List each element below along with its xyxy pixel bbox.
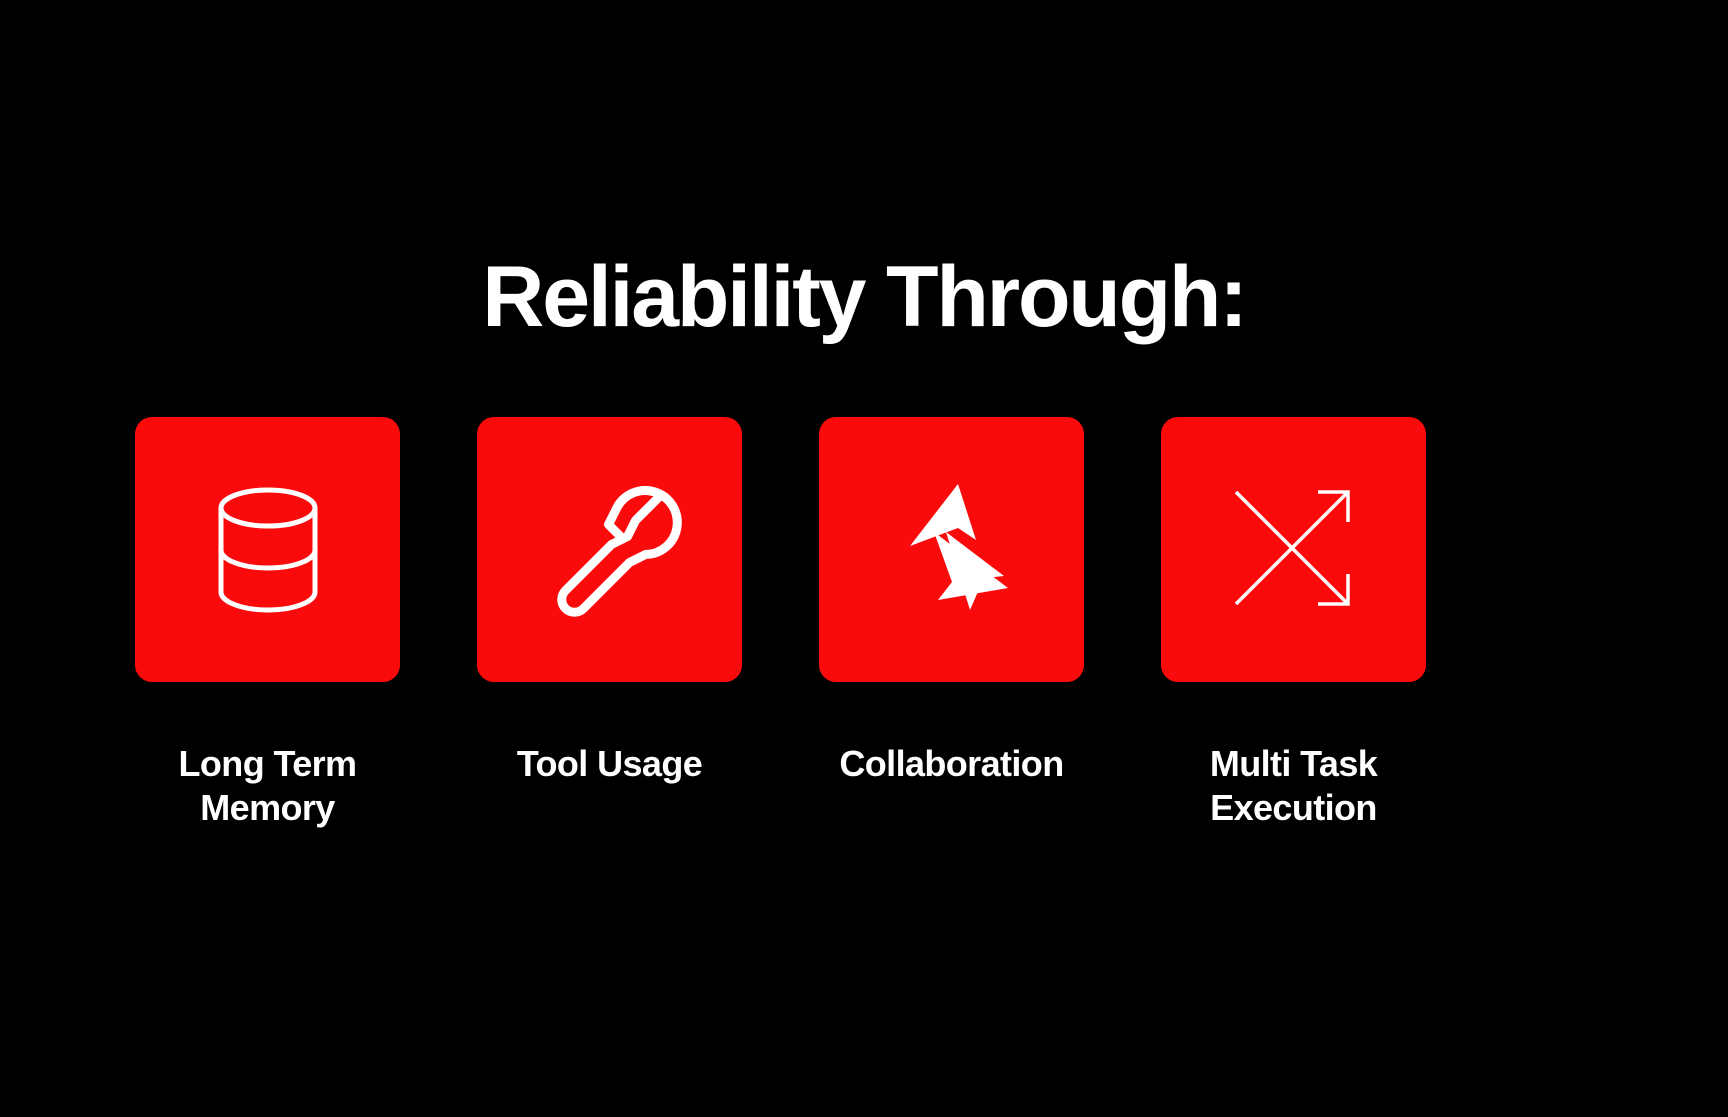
feature-item-collaboration[interactable]: Collaboration xyxy=(819,417,1084,830)
feature-label-tool-usage: Tool Usage xyxy=(517,742,702,786)
feature-tile-collaboration[interactable] xyxy=(819,417,1084,682)
database-icon xyxy=(188,470,348,630)
slide-root: Reliability Through: Long Term Memory xyxy=(0,0,1728,1117)
feature-tile-tool-usage[interactable] xyxy=(477,417,742,682)
feature-label-multi-task-execution: Multi Task Execution xyxy=(1210,742,1377,830)
feature-item-tool-usage[interactable]: Tool Usage xyxy=(477,417,742,830)
shuffle-arrows-icon xyxy=(1214,470,1374,630)
feature-item-long-term-memory[interactable]: Long Term Memory xyxy=(135,417,400,830)
feature-item-multi-task-execution[interactable]: Multi Task Execution xyxy=(1161,417,1426,830)
page-title: Reliability Through: xyxy=(0,254,1728,340)
wrench-icon xyxy=(530,470,690,630)
feature-tile-multi-task-execution[interactable] xyxy=(1161,417,1426,682)
feature-label-collaboration: Collaboration xyxy=(839,742,1063,786)
collaboration-cycle-icon xyxy=(872,470,1032,630)
feature-tile-row: Long Term Memory Tool Usage xyxy=(135,417,1595,830)
feature-tile-long-term-memory[interactable] xyxy=(135,417,400,682)
feature-label-long-term-memory: Long Term Memory xyxy=(179,742,357,830)
